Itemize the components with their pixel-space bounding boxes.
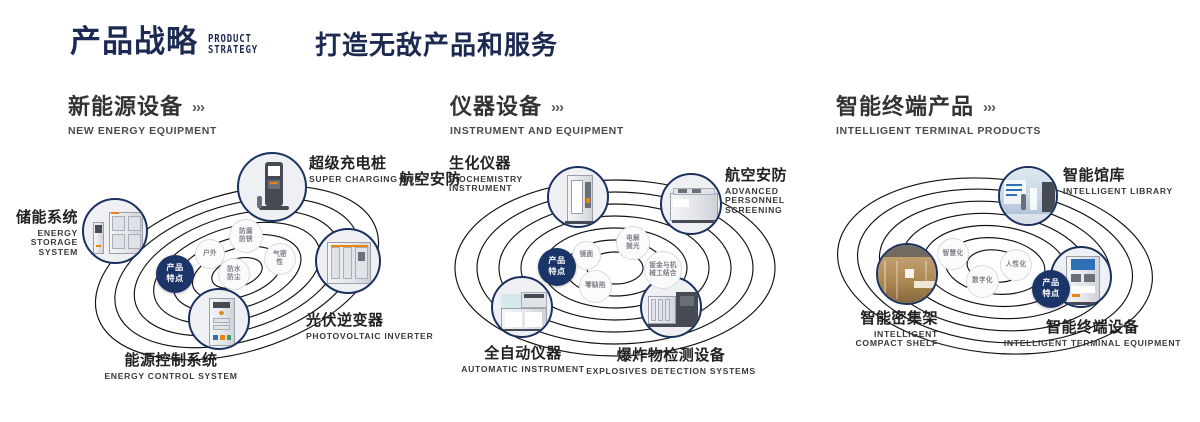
feature-bubble-anticorrosion: 防腐防锈	[229, 219, 263, 253]
energy-storage-system-image	[84, 200, 146, 262]
node-label-cn: 智能终端设备	[995, 320, 1190, 337]
page-title-cn: 产品战略	[70, 26, 198, 57]
feature-bubble-zero-defect: 零缺陷	[579, 270, 612, 303]
diagram-new-energy: 储能系统 ENERGY STORAGE SYSTEM 超级充电桩 SUPER C…	[60, 148, 410, 398]
chevron-right-icon: ›››	[983, 99, 995, 116]
node-label-en: ADVANCED PERSONNEL SCREENING	[725, 187, 811, 216]
node-label-en: INTELLIGENT COMPACT SHELF	[846, 330, 938, 349]
feature-bubble-electropolish: 电解抛光	[616, 226, 650, 260]
section-title-instrument: 仪器设备 ››› INSTRUMENT AND EQUIPMENT	[450, 96, 624, 137]
node-label-cn: 生化仪器	[449, 156, 569, 173]
diagram-intelligent-terminal: 智能馆库 INTELLIGENT LIBRARY 智能密集架 INTELLIGE…	[810, 148, 1190, 398]
feature-bubble-intelligent: 智慧化	[937, 238, 969, 270]
node-energy-control-system[interactable]	[188, 288, 250, 350]
feature-bubble-airtight: 气密性	[264, 243, 296, 275]
section-title-en: INSTRUMENT AND EQUIPMENT	[450, 125, 624, 137]
section-title-new-energy: 新能源设备 ››› NEW ENERGY EQUIPMENT	[68, 96, 217, 137]
feature-bubble-waterproof: 防水防尘	[218, 258, 250, 290]
core-bubble-product-features: 产品 特点	[538, 248, 576, 286]
node-energy-storage-system[interactable]	[82, 198, 148, 264]
feature-bubble-text: 电解抛光	[625, 235, 641, 251]
node-label-cn: 航空安防	[399, 172, 461, 189]
node-intelligent-library[interactable]	[998, 166, 1058, 226]
label-intelligent-library: 智能馆库 INTELLIGENT LIBRARY	[1063, 168, 1193, 196]
section-title-en: INTELLIGENT TERMINAL PRODUCTS	[836, 125, 1041, 137]
intelligent-compact-shelf-image	[878, 245, 936, 303]
automatic-instrument-image	[493, 278, 551, 336]
node-label-en: INTELLIGENT TERMINAL EQUIPMENT	[995, 339, 1190, 349]
page-subtitle: 打造无敌产品和服务	[315, 32, 558, 58]
label-intelligent-compact-shelf: 智能密集架 INTELLIGENT COMPACT SHELF	[780, 311, 938, 349]
node-label-en: ENERGY CONTROL SYSTEM	[76, 372, 266, 382]
photovoltaic-inverter-image	[317, 230, 379, 292]
feature-bubble-text: 智慧化	[941, 250, 965, 258]
intelligent-library-image	[1000, 168, 1056, 224]
label-energy-control-system: 能源控制系统 ENERGY CONTROL SYSTEM	[76, 353, 266, 381]
page-title-en: PRODUCT STRATEGY	[208, 33, 258, 55]
product-strategy-infographic: 产品战略 PRODUCT STRATEGY 打造无敌产品和服务 新能源设备 ››…	[0, 0, 1200, 422]
feature-bubble-mirror: 镜面	[572, 241, 601, 270]
node-label-cn: 智能馆库	[1063, 168, 1193, 185]
page-title-en-line2: STRATEGY	[208, 44, 258, 55]
feature-bubble-text: 数字化	[971, 277, 995, 285]
diagram-instrument: 生化仪器 BIOCHEMISTRY INSTRUMENT 航空安防 航空安防 A…	[425, 148, 795, 398]
section-title-en: NEW ENERGY EQUIPMENT	[68, 125, 217, 137]
chevron-right-icon: ›››	[551, 99, 563, 116]
section-title-cn: 新能源设备	[68, 96, 183, 118]
node-photovoltaic-inverter[interactable]	[315, 228, 381, 294]
feature-bubble-text: 防腐防锈	[238, 228, 254, 244]
energy-control-system-image	[190, 290, 248, 348]
section-title-cn: 仪器设备	[450, 96, 542, 118]
node-automatic-instrument[interactable]	[491, 276, 553, 338]
node-label-cn: 智能密集架	[780, 311, 938, 328]
feature-bubble-text: 防水防尘	[226, 266, 242, 282]
section-title-intelligent-terminal: 智能终端产品 ››› INTELLIGENT TERMINAL PRODUCTS	[836, 96, 1041, 137]
node-label-cn: 爆炸物检测设备	[581, 348, 761, 365]
label-explosives-detection-systems: 爆炸物检测设备 EXPLOSIVES DETECTION SYSTEMS	[581, 348, 761, 376]
feature-bubble-digital: 数字化	[966, 265, 999, 298]
node-label-cn: 能源控制系统	[76, 353, 266, 370]
feature-bubble-sheetmetal-machining: 钣金与机械工结合	[644, 251, 682, 289]
feature-bubble-humanized: 人性化	[1000, 249, 1032, 281]
node-intelligent-compact-shelf[interactable]	[876, 243, 938, 305]
label-aviation-security-side: 航空安防	[399, 172, 461, 189]
core-bubble-product-features: 产品 特点	[156, 255, 194, 293]
core-bubble-product-features: 产品 特点	[1032, 270, 1070, 308]
section-title-cn: 智能终端产品	[836, 96, 974, 118]
node-super-charging-hub[interactable]	[237, 152, 307, 222]
chevron-right-icon: ›››	[192, 99, 204, 116]
advanced-personnel-screening-image	[662, 175, 720, 233]
feature-bubble-text: 钣金与机械工结合	[648, 262, 678, 278]
core-bubble-text: 产品 特点	[166, 263, 183, 284]
core-bubble-text: 产品 特点	[548, 256, 565, 277]
feature-bubble-text: 人性化	[1004, 261, 1028, 269]
super-charging-hub-image	[239, 154, 305, 220]
node-advanced-personnel-screening[interactable]	[660, 173, 722, 235]
node-label-en: ENERGY STORAGE SYSTEM	[0, 229, 78, 258]
page-header: 产品战略 PRODUCT STRATEGY 打造无敌产品和服务	[70, 26, 558, 57]
label-energy-storage-system: 储能系统 ENERGY STORAGE SYSTEM	[0, 210, 78, 258]
feature-bubble-text: 户外	[203, 250, 217, 258]
node-label-cn: 储能系统	[0, 210, 78, 227]
feature-bubble-text: 气密性	[270, 251, 290, 267]
label-intelligent-terminal-equipment: 智能终端设备 INTELLIGENT TERMINAL EQUIPMENT	[995, 320, 1190, 348]
label-biochemistry-instrument: 生化仪器 BIOCHEMISTRY INSTRUMENT	[449, 156, 569, 194]
node-label-en: INTELLIGENT LIBRARY	[1063, 187, 1193, 197]
core-bubble-text: 产品 特点	[1042, 278, 1059, 299]
feature-bubble-text: 零缺陷	[585, 282, 607, 290]
node-label-en: EXPLOSIVES DETECTION SYSTEMS	[581, 367, 761, 377]
feature-bubble-text: 镜面	[580, 251, 594, 259]
